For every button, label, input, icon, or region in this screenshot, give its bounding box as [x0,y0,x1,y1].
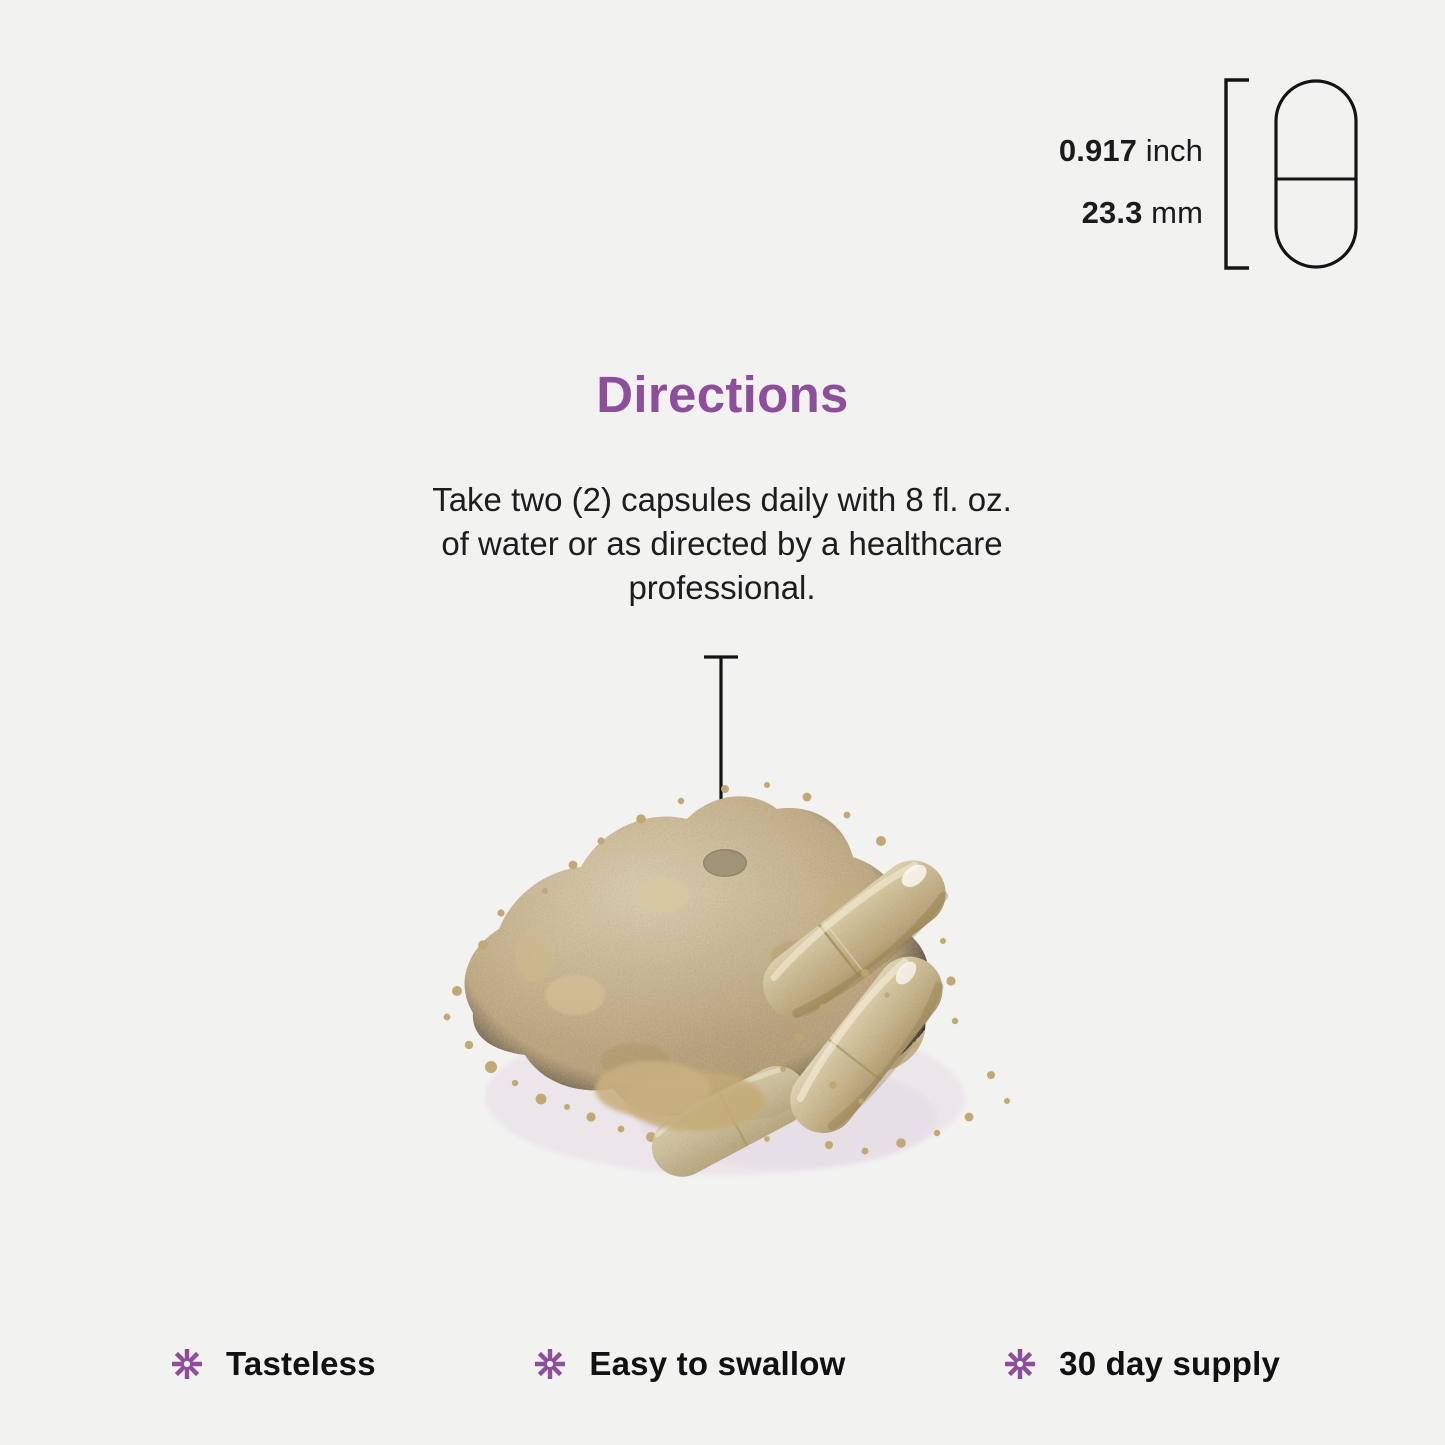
directions-text: Take two (2) capsules daily with 8 fl. o… [352,478,1092,610]
powder-and-capsules-photo [395,745,1035,1255]
size-mm-unit: mm [1151,195,1203,230]
product-infographic: 0.917 inch 23.3 mm Directions Take two (… [0,0,1445,1445]
size-mm-value: 23.3 [1082,195,1143,230]
feature-item-tasteless: Tasteless [170,1345,376,1383]
directions-line: of water or as directed by a healthcare [352,522,1092,566]
size-mm-line: 23.3 mm [1015,182,1203,244]
directions-line: Take two (2) capsules daily with 8 fl. o… [352,478,1092,522]
asterisk-icon [533,1347,567,1381]
measurement-bracket-icon [1223,78,1257,270]
asterisk-icon [1003,1347,1037,1381]
size-inch-unit: inch [1146,133,1203,168]
feature-item-easy-to-swallow: Easy to swallow [533,1345,845,1383]
size-inch-value: 0.917 [1059,133,1137,168]
capsule-size-callout: 0.917 inch 23.3 mm [1015,78,1385,278]
feature-label: 30 day supply [1059,1345,1280,1383]
directions-line: professional. [352,566,1092,610]
feature-label: Easy to swallow [589,1345,845,1383]
feature-row: Tasteless Easy to swallow [170,1345,1280,1383]
capsule-outline-icon [1273,78,1359,270]
size-labels: 0.917 inch 23.3 mm [1015,120,1203,244]
feature-label: Tasteless [226,1345,376,1383]
page-title: Directions [0,365,1445,424]
feature-item-30-day-supply: 30 day supply [1003,1345,1280,1383]
asterisk-icon [170,1347,204,1381]
size-inch-line: 0.917 inch [1015,120,1203,182]
